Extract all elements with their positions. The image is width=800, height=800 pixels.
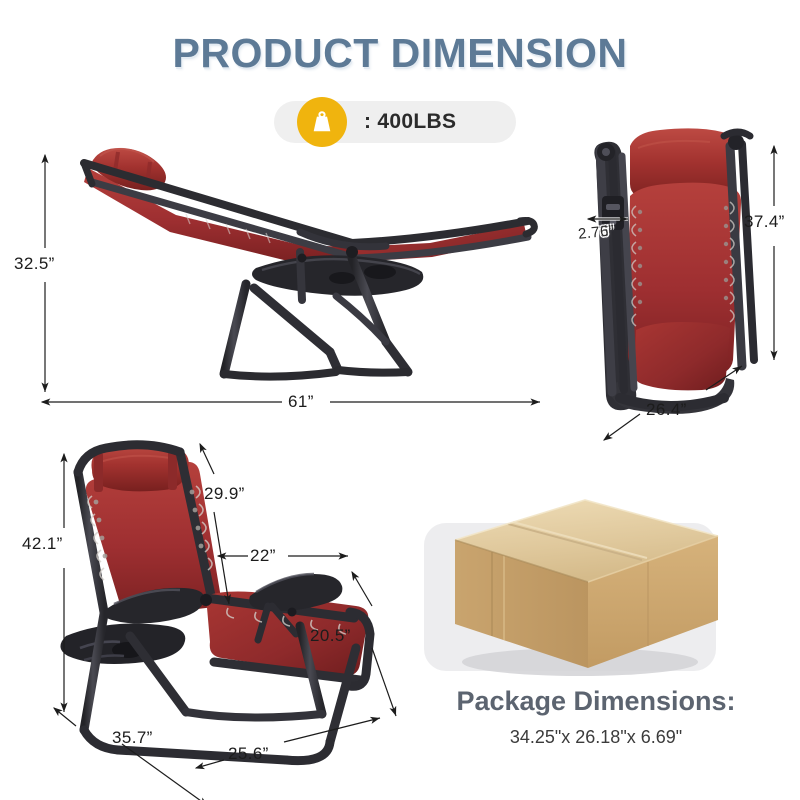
dimension-label-folded-height: 37.4” bbox=[744, 212, 785, 232]
weight-capacity-label: : 400LBS bbox=[364, 101, 456, 143]
dimension-label-upright-base-width: 25.6” bbox=[228, 744, 269, 764]
folded-chair-dimension-lines bbox=[588, 146, 774, 440]
dimension-label-folded-thickness: 2.76” bbox=[577, 222, 615, 243]
dimension-label-reclined-length: 61” bbox=[288, 392, 314, 412]
dimension-label-upright-overall-height: 42.1” bbox=[22, 534, 63, 554]
product-dimension-infographic: PRODUCT DIMENSION : 400LBS bbox=[0, 0, 800, 800]
dimension-label-upright-backrest-height: 29.9” bbox=[204, 484, 245, 504]
dimension-label-folded-depth: 26.4” bbox=[646, 400, 687, 420]
package-panel bbox=[424, 523, 716, 671]
dimension-label-upright-seat-height: 20.5” bbox=[310, 626, 351, 646]
page-title: PRODUCT DIMENSION bbox=[0, 30, 800, 77]
reclined-chair-dimension-lines bbox=[42, 155, 540, 402]
reclined-chair-illustration bbox=[84, 148, 534, 377]
package-dimensions-value: 34.25"x 26.18"x 6.69" bbox=[400, 727, 792, 748]
folded-chair-illustration bbox=[594, 128, 754, 413]
weight-capacity-badge: : 400LBS bbox=[274, 101, 516, 143]
weight-icon bbox=[297, 97, 347, 147]
cup-holder-tray bbox=[252, 255, 423, 296]
left-armrest-tray bbox=[60, 588, 204, 664]
dimension-label-upright-armrest-width: 22” bbox=[250, 546, 276, 566]
dimension-label-upright-base-depth: 35.7” bbox=[112, 728, 153, 748]
package-dimensions-title: Package Dimensions: bbox=[400, 686, 792, 717]
dimension-label-reclined-height: 32.5” bbox=[14, 254, 55, 274]
